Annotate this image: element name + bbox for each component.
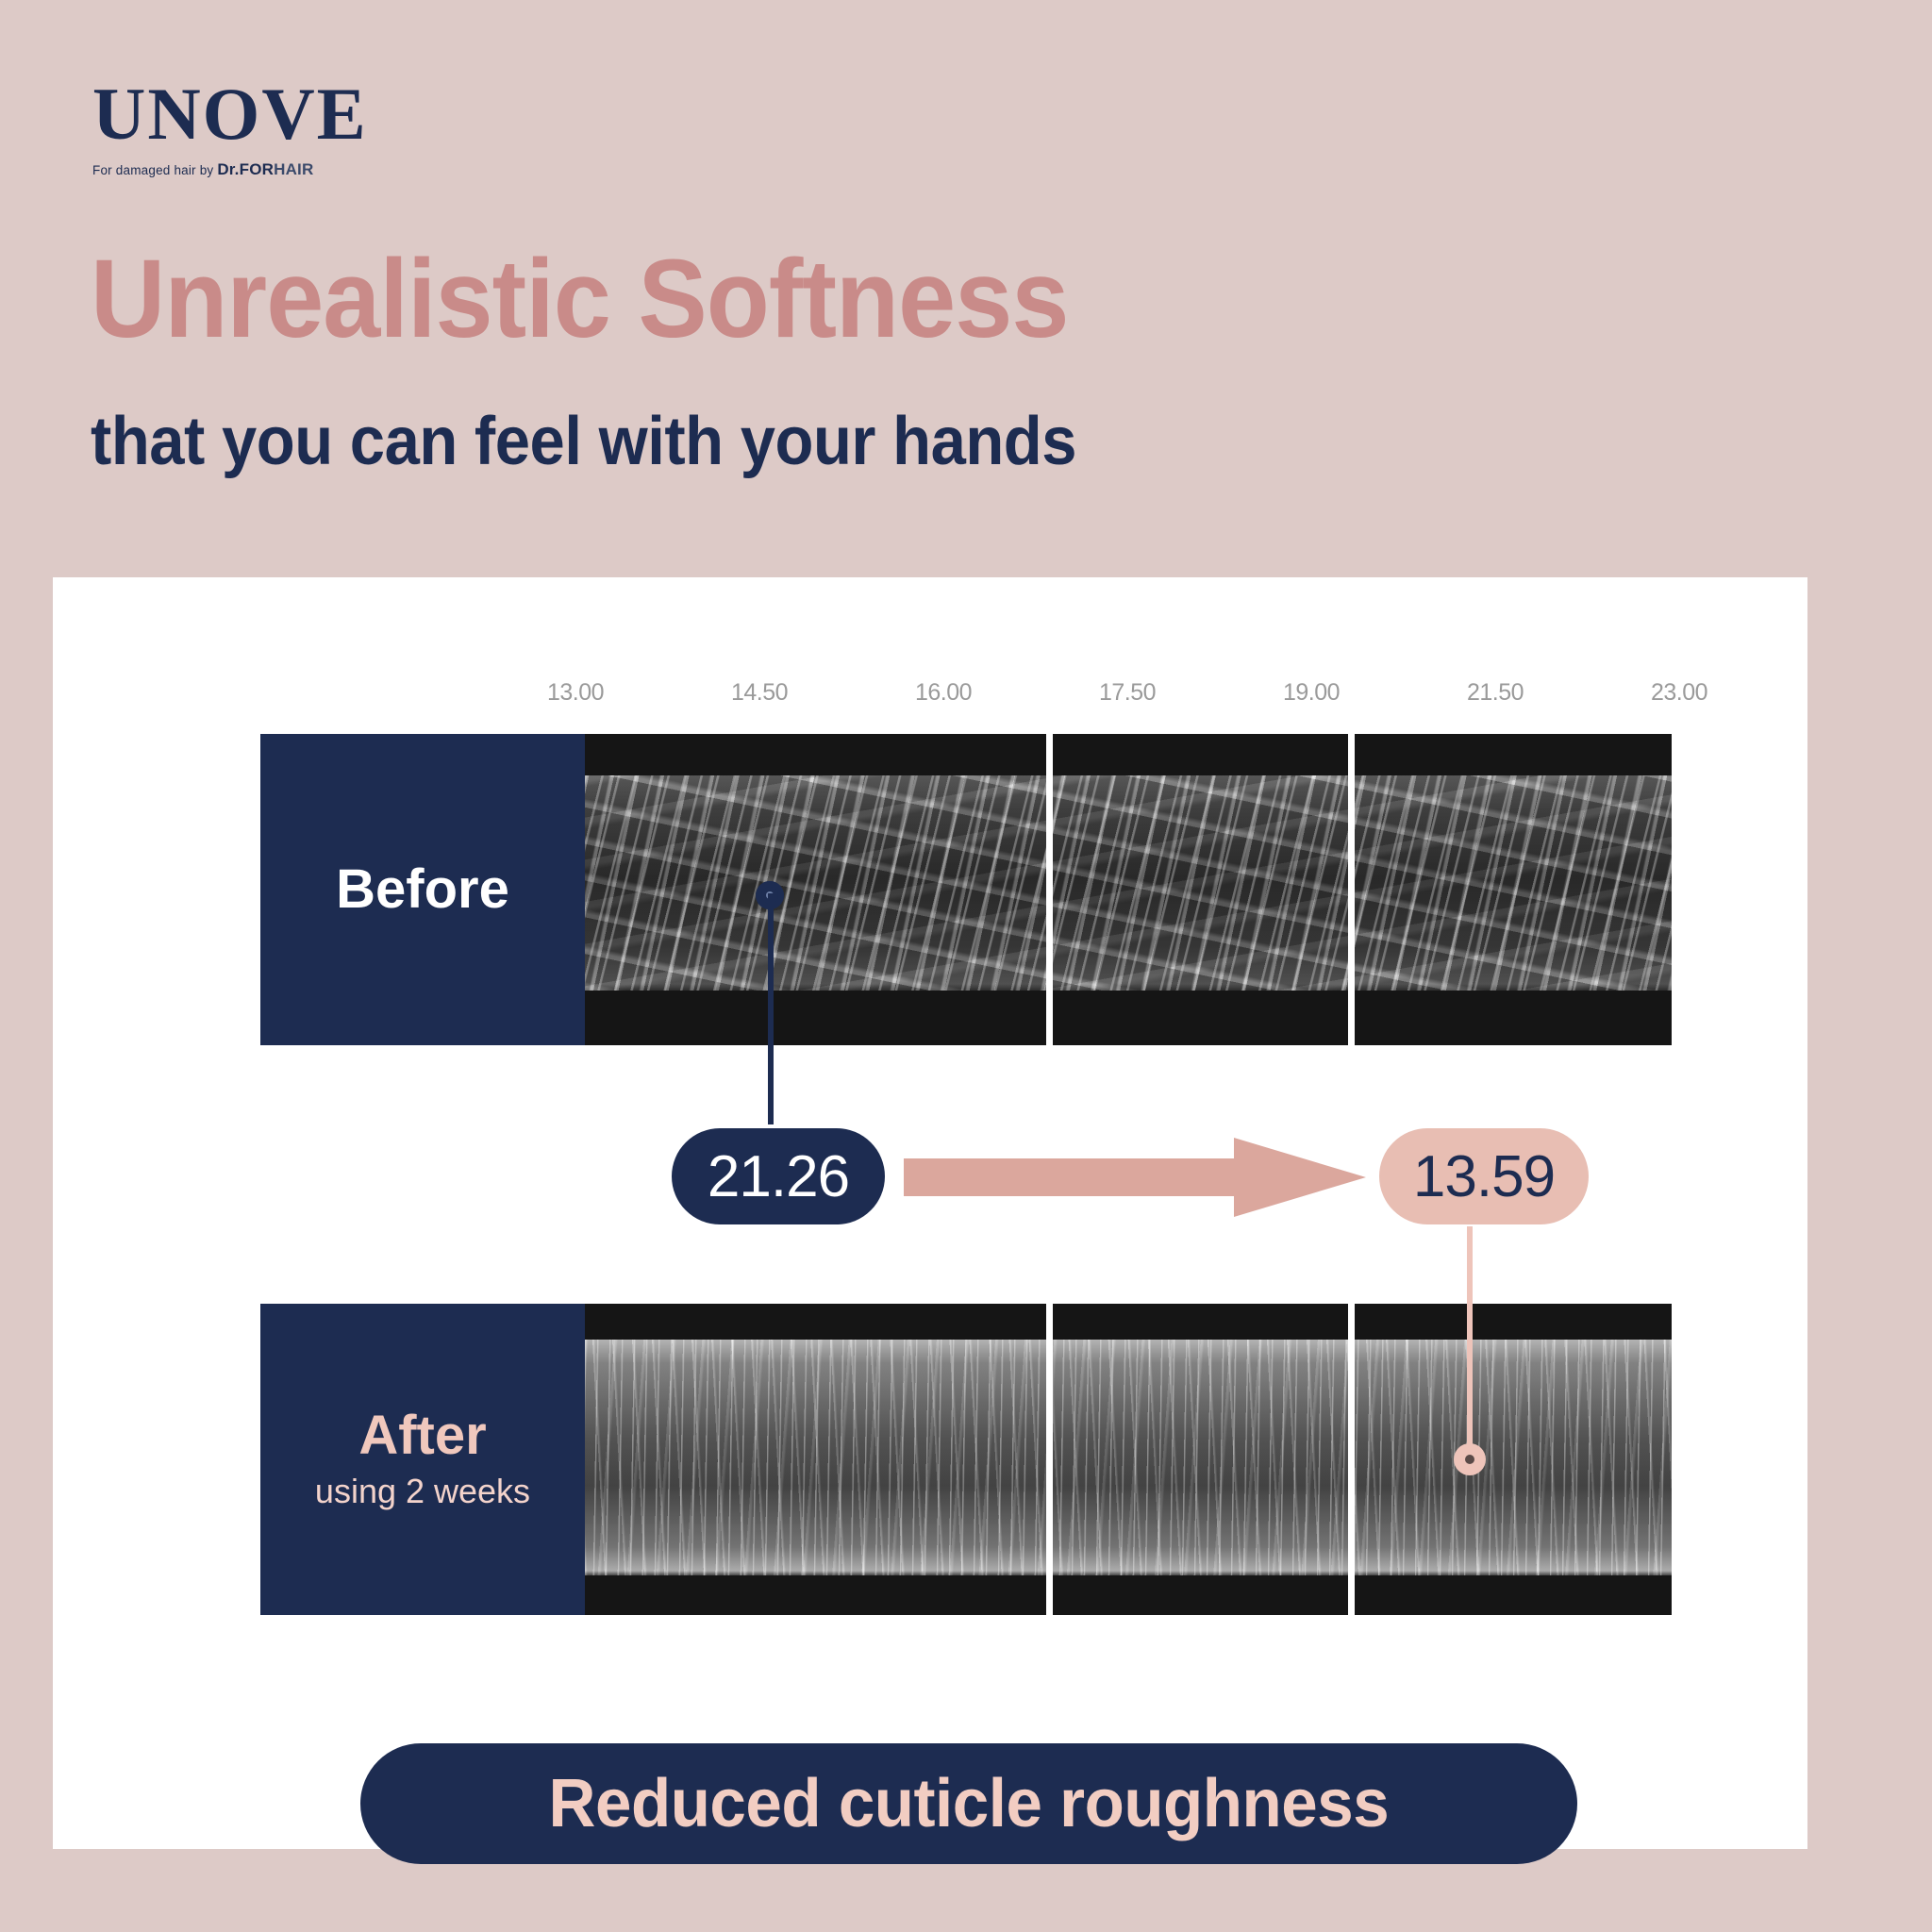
before-label-text: Before [336,861,509,919]
axis-tick-label: 14.50 [731,679,788,707]
axis-tick-label: 21.50 [1467,679,1524,707]
before-row: Before [260,734,1672,1045]
after-measurement-point-icon [1454,1443,1486,1475]
measurement-axis: 13.0014.5016.0017.5019.0021.5023.00 [575,679,1679,708]
brand-tagline-bold: Dr.FOR [217,160,274,178]
after-sem-image [585,1304,1672,1615]
before-hair-shaft [585,775,1672,991]
after-hair-shaft [585,1340,1672,1575]
brand-tagline: For damaged hair by Dr.FORHAIR [92,160,368,179]
axis-tick-label: 17.50 [1099,679,1156,707]
axis-tick-label: 13.00 [547,679,604,707]
brand-tagline-light: For damaged hair by [92,163,217,177]
page-subtitle: that you can feel with your hands [91,408,1076,475]
before-panel-divider-2 [1348,734,1355,1045]
page-title: Unrealistic Softness [91,243,1068,355]
after-panel-divider-2 [1348,1304,1355,1615]
before-sem-image [585,734,1672,1045]
before-label-panel: Before [260,734,585,1045]
brand-logo: UNOVE For damaged hair by Dr.FORHAIR [92,77,368,179]
axis-tick-label: 23.00 [1651,679,1707,707]
after-value-badge: 13.59 [1379,1128,1589,1224]
improvement-arrow-icon [904,1138,1366,1217]
before-panel-divider-1 [1046,734,1053,1045]
after-label-text: After [358,1407,486,1465]
axis-tick-label: 16.00 [915,679,972,707]
after-connector-line [1467,1226,1473,1462]
after-panel-divider-1 [1046,1304,1053,1615]
before-value-badge: 21.26 [672,1128,885,1224]
before-connector-line [768,893,774,1124]
after-label-sublabel: using 2 weeks [315,1472,530,1511]
result-banner: Reduced cuticle roughness [360,1743,1577,1864]
axis-tick-label: 19.00 [1283,679,1340,707]
brand-wordmark: UNOVE [92,77,368,151]
after-label-panel: After using 2 weeks [260,1304,585,1615]
brand-tagline-semi: HAIR [274,160,313,178]
result-banner-text: Reduced cuticle roughness [549,1765,1390,1842]
